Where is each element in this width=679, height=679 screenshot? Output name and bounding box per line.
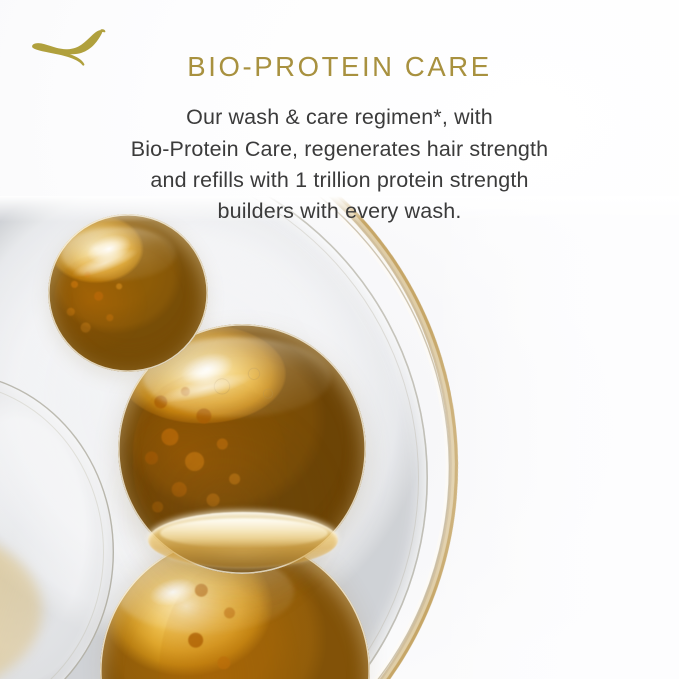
ad-creative: BIO-PROTEIN CARE Our wash & care regimen…: [0, 0, 679, 679]
body-line-4: builders with every wash.: [24, 196, 655, 227]
product-imagery: [0, 196, 679, 679]
droplet-neck-highlight: [160, 518, 328, 548]
body-line-3: and refills with 1 trillion protein stre…: [24, 165, 655, 196]
bubble-top-rimlight: [48, 214, 208, 372]
body-line-1: Our wash & care regimen*, with: [24, 102, 655, 133]
copy-block: BIO-PROTEIN CARE Our wash & care regimen…: [0, 52, 679, 228]
contact-shadow: [60, 346, 390, 676]
body-line-2: Bio-Protein Care, regenerates hair stren…: [24, 134, 655, 165]
page-title: BIO-PROTEIN CARE: [0, 52, 679, 82]
body-copy: Our wash & care regimen*, with Bio-Prote…: [0, 102, 679, 228]
bubble-top: [48, 214, 208, 372]
